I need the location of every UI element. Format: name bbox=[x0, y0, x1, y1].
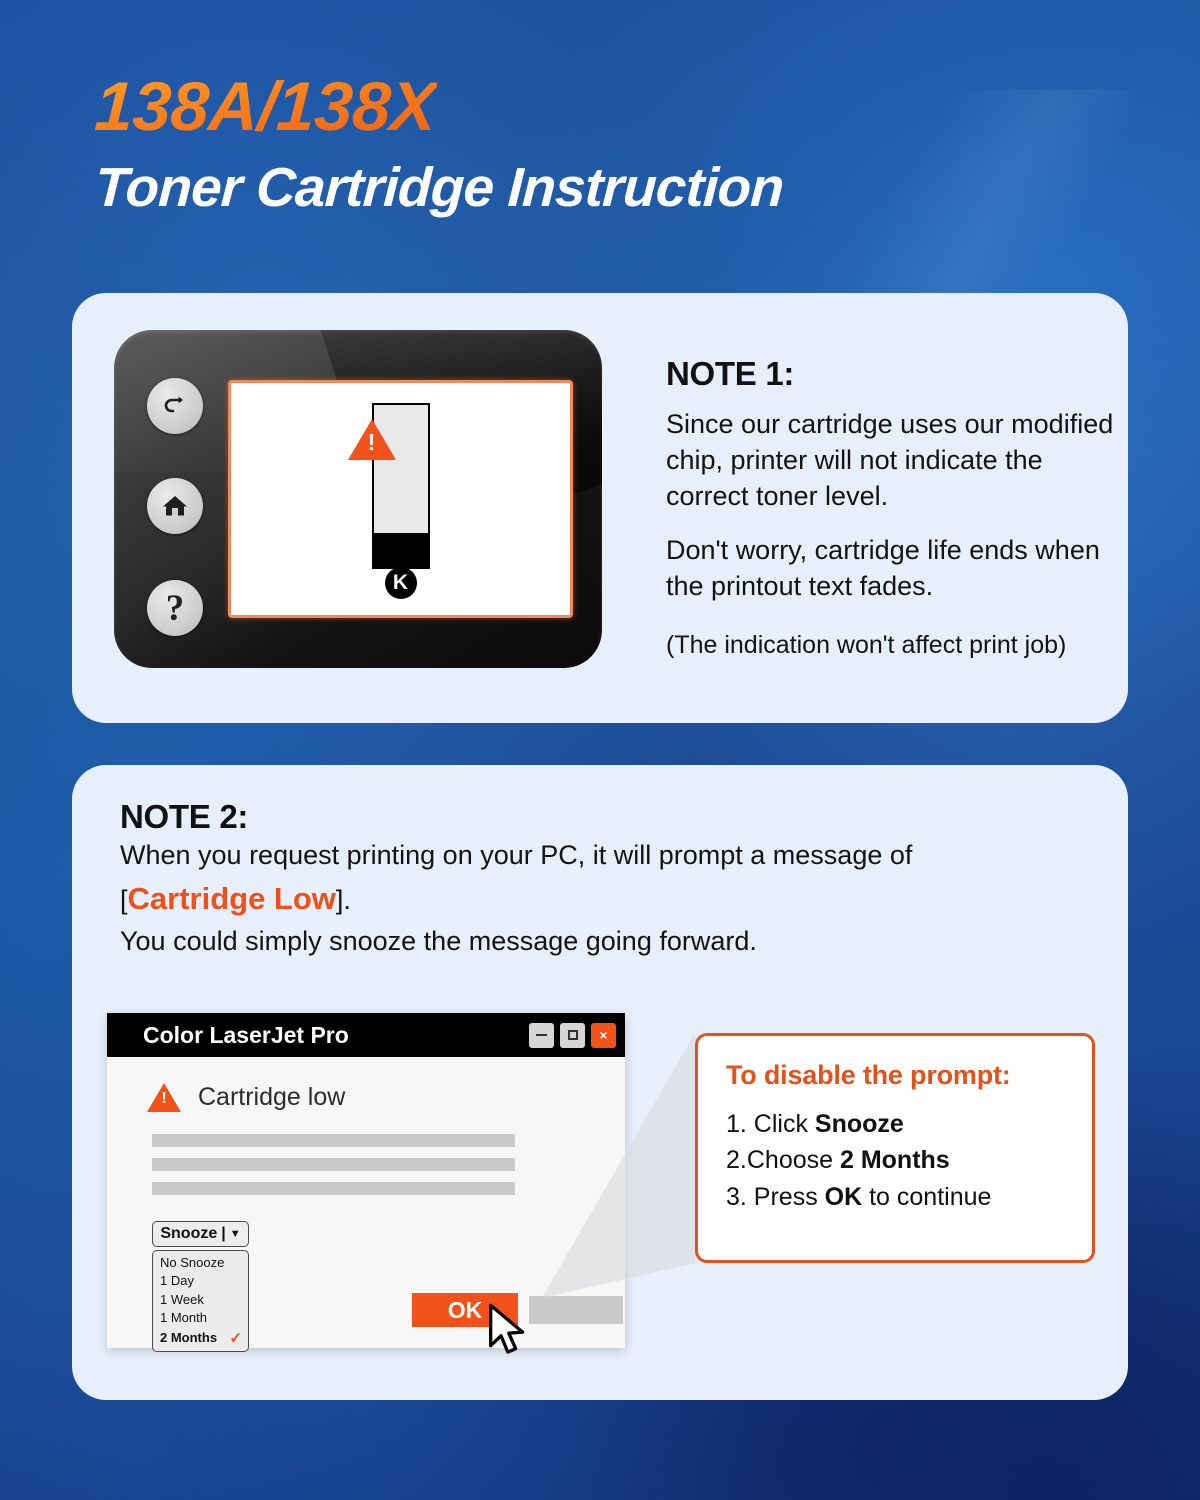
minimize-button[interactable] bbox=[529, 1023, 554, 1048]
dialog-placeholder-lines bbox=[152, 1134, 515, 1195]
step-number: 1. bbox=[726, 1110, 754, 1138]
snooze-dropdown-menu[interactable]: No Snooze 1 Day 1 Week 1 Month 2 Months … bbox=[152, 1250, 249, 1352]
printer-home-button[interactable] bbox=[147, 478, 203, 534]
disable-prompt-instruction-box: To disable the prompt: 1. Click Snooze 2… bbox=[695, 1033, 1095, 1263]
page-header: 138A/138X Toner Cartridge Instruction bbox=[95, 72, 1095, 217]
note2-line-2: [Cartridge Low]. bbox=[120, 876, 1080, 922]
printer-control-panel: ? K bbox=[114, 330, 602, 668]
warning-triangle-icon bbox=[147, 1083, 181, 1112]
toner-level-bar bbox=[372, 403, 430, 555]
placeholder-line bbox=[152, 1182, 515, 1195]
note1-paragraph-2: Don't worry, cartridge life ends when th… bbox=[666, 533, 1114, 605]
step-text-post: to continue bbox=[862, 1183, 991, 1211]
note2-card: NOTE 2: When you request printing on you… bbox=[72, 765, 1128, 1400]
dialog-alert-text: Cartridge low bbox=[198, 1083, 345, 1112]
step-number: 2. bbox=[726, 1146, 747, 1174]
warning-triangle-icon bbox=[348, 419, 396, 460]
dialog-alert-row: Cartridge low bbox=[107, 1057, 625, 1112]
instruction-step-2: 2.Choose 2 Months bbox=[726, 1142, 1092, 1178]
placeholder-line bbox=[152, 1158, 515, 1171]
secondary-button-placeholder[interactable] bbox=[529, 1296, 623, 1324]
toner-level-fill bbox=[372, 533, 430, 569]
snooze-button[interactable]: Snooze | ▼ bbox=[152, 1221, 249, 1247]
snooze-separator: | bbox=[221, 1225, 225, 1243]
step-text-pre: Choose bbox=[747, 1146, 840, 1174]
instruction-step-3: 3. Press OK to continue bbox=[726, 1179, 1092, 1215]
back-arrow-icon bbox=[160, 391, 190, 421]
home-icon bbox=[160, 491, 190, 521]
printer-back-button[interactable] bbox=[147, 378, 203, 434]
instruction-steps: 1. Click Snooze 2.Choose 2 Months 3. Pre… bbox=[726, 1106, 1092, 1215]
snooze-button-label: Snooze bbox=[160, 1225, 217, 1243]
page-title-model: 138A/138X bbox=[93, 72, 437, 141]
dialog-titlebar: Color LaserJet Pro × bbox=[107, 1013, 625, 1057]
bracket-open: [ bbox=[120, 885, 128, 915]
chevron-down-icon: ▼ bbox=[230, 1228, 241, 1240]
snooze-option-label: 2 Months bbox=[160, 1329, 217, 1347]
snooze-option-label: 1 Day bbox=[160, 1272, 194, 1290]
step-text-pre: Click bbox=[754, 1110, 815, 1138]
dialog-button-row: OK bbox=[412, 1293, 623, 1327]
snooze-option-1-day[interactable]: 1 Day bbox=[153, 1272, 248, 1290]
note2-line-3: You could simply snooze the message goin… bbox=[120, 922, 1080, 962]
toner-color-badge: K bbox=[385, 567, 417, 599]
instruction-step-1: 1. Click Snooze bbox=[726, 1106, 1092, 1142]
dialog-title: Color LaserJet Pro bbox=[143, 1022, 523, 1049]
maximize-icon bbox=[568, 1030, 578, 1040]
note2-heading: NOTE 2: bbox=[120, 798, 1080, 836]
snooze-option-no-snooze[interactable]: No Snooze bbox=[153, 1254, 248, 1272]
bracket-close: ]. bbox=[336, 885, 351, 915]
toner-gauge: K bbox=[341, 403, 461, 599]
cartridge-low-highlight: Cartridge Low bbox=[128, 881, 336, 916]
question-mark-icon: ? bbox=[166, 590, 185, 627]
maximize-button[interactable] bbox=[560, 1023, 585, 1048]
note1-parenthetical: (The indication won't affect print job) bbox=[666, 631, 1114, 660]
snooze-option-label: 1 Week bbox=[160, 1291, 204, 1309]
page-title-subtitle: Toner Cartridge Instruction bbox=[93, 159, 784, 217]
note1-text-block: NOTE 1: Since our cartridge uses our mod… bbox=[666, 355, 1114, 660]
step-text-bold: 2 Months bbox=[840, 1146, 950, 1174]
printer-help-button[interactable]: ? bbox=[147, 580, 203, 636]
step-text-bold: OK bbox=[825, 1183, 863, 1211]
minimize-icon bbox=[536, 1034, 547, 1036]
snooze-control: Snooze | ▼ No Snooze 1 Day 1 Week 1 Mont… bbox=[152, 1221, 249, 1352]
note1-paragraph-1: Since our cartridge uses our modified ch… bbox=[666, 407, 1114, 515]
placeholder-line bbox=[152, 1134, 515, 1147]
snooze-option-2-months[interactable]: 2 Months ✓ bbox=[153, 1328, 248, 1349]
snooze-option-label: No Snooze bbox=[160, 1254, 224, 1272]
snooze-option-label: 1 Month bbox=[160, 1309, 207, 1327]
checkmark-icon: ✓ bbox=[229, 1328, 242, 1349]
snooze-option-1-month[interactable]: 1 Month bbox=[153, 1309, 248, 1327]
step-text-pre: Press bbox=[754, 1183, 825, 1211]
instruction-title: To disable the prompt: bbox=[726, 1060, 1092, 1091]
printer-dialog-window: Color LaserJet Pro × Cartridge low Snooz… bbox=[107, 1013, 625, 1348]
ok-button[interactable]: OK bbox=[412, 1293, 518, 1327]
step-text-bold: Snooze bbox=[815, 1110, 904, 1138]
printer-display-screen: K bbox=[228, 380, 573, 618]
snooze-option-1-week[interactable]: 1 Week bbox=[153, 1291, 248, 1309]
note2-text-block: NOTE 2: When you request printing on you… bbox=[120, 798, 1080, 962]
note1-heading: NOTE 1: bbox=[666, 355, 1114, 393]
step-number: 3. bbox=[726, 1183, 754, 1211]
note1-card: ? K NOTE 1: Since our cartridge uses our… bbox=[72, 293, 1128, 723]
note2-line-1: When you request printing on your PC, it… bbox=[120, 836, 1080, 876]
close-button[interactable]: × bbox=[591, 1023, 616, 1048]
